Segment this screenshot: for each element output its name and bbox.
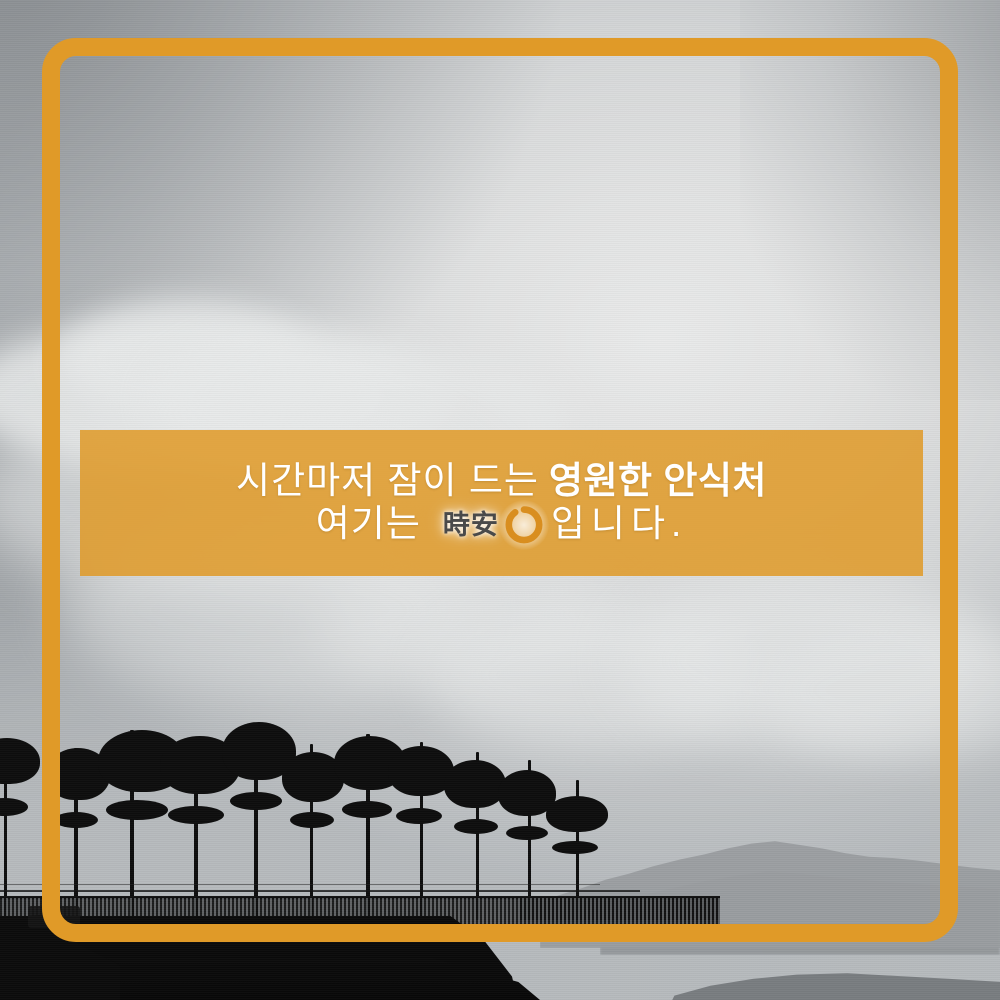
- brand-logo: 時安: [443, 506, 543, 544]
- caption-line-2: 여기는 時安 입니다.: [316, 504, 688, 545]
- overhead-wire: [0, 890, 640, 892]
- banner-canvas: 시간마저 잠이 드는 영원한 안식처 여기는 時安 입니다.: [0, 0, 1000, 1000]
- caption-line2-prefix: 여기는: [316, 504, 421, 545]
- rock-detail: [28, 906, 80, 928]
- brand-hanja-text: 時安: [443, 511, 499, 541]
- caption-line1-regular: 시간마저 잠이 드는: [236, 461, 539, 502]
- caption-line1-emphasis: 영원한 안식처: [549, 461, 767, 502]
- circle-ring-logo-icon: [505, 506, 543, 544]
- caption-line2-suffix: 입니다.: [551, 504, 687, 545]
- overhead-wire: [0, 884, 600, 885]
- sky-shadow-right: [740, 0, 1000, 400]
- caption-line-1: 시간마저 잠이 드는 영원한 안식처: [236, 461, 767, 502]
- caption-band: 시간마저 잠이 드는 영원한 안식처 여기는 時安 입니다.: [80, 430, 923, 576]
